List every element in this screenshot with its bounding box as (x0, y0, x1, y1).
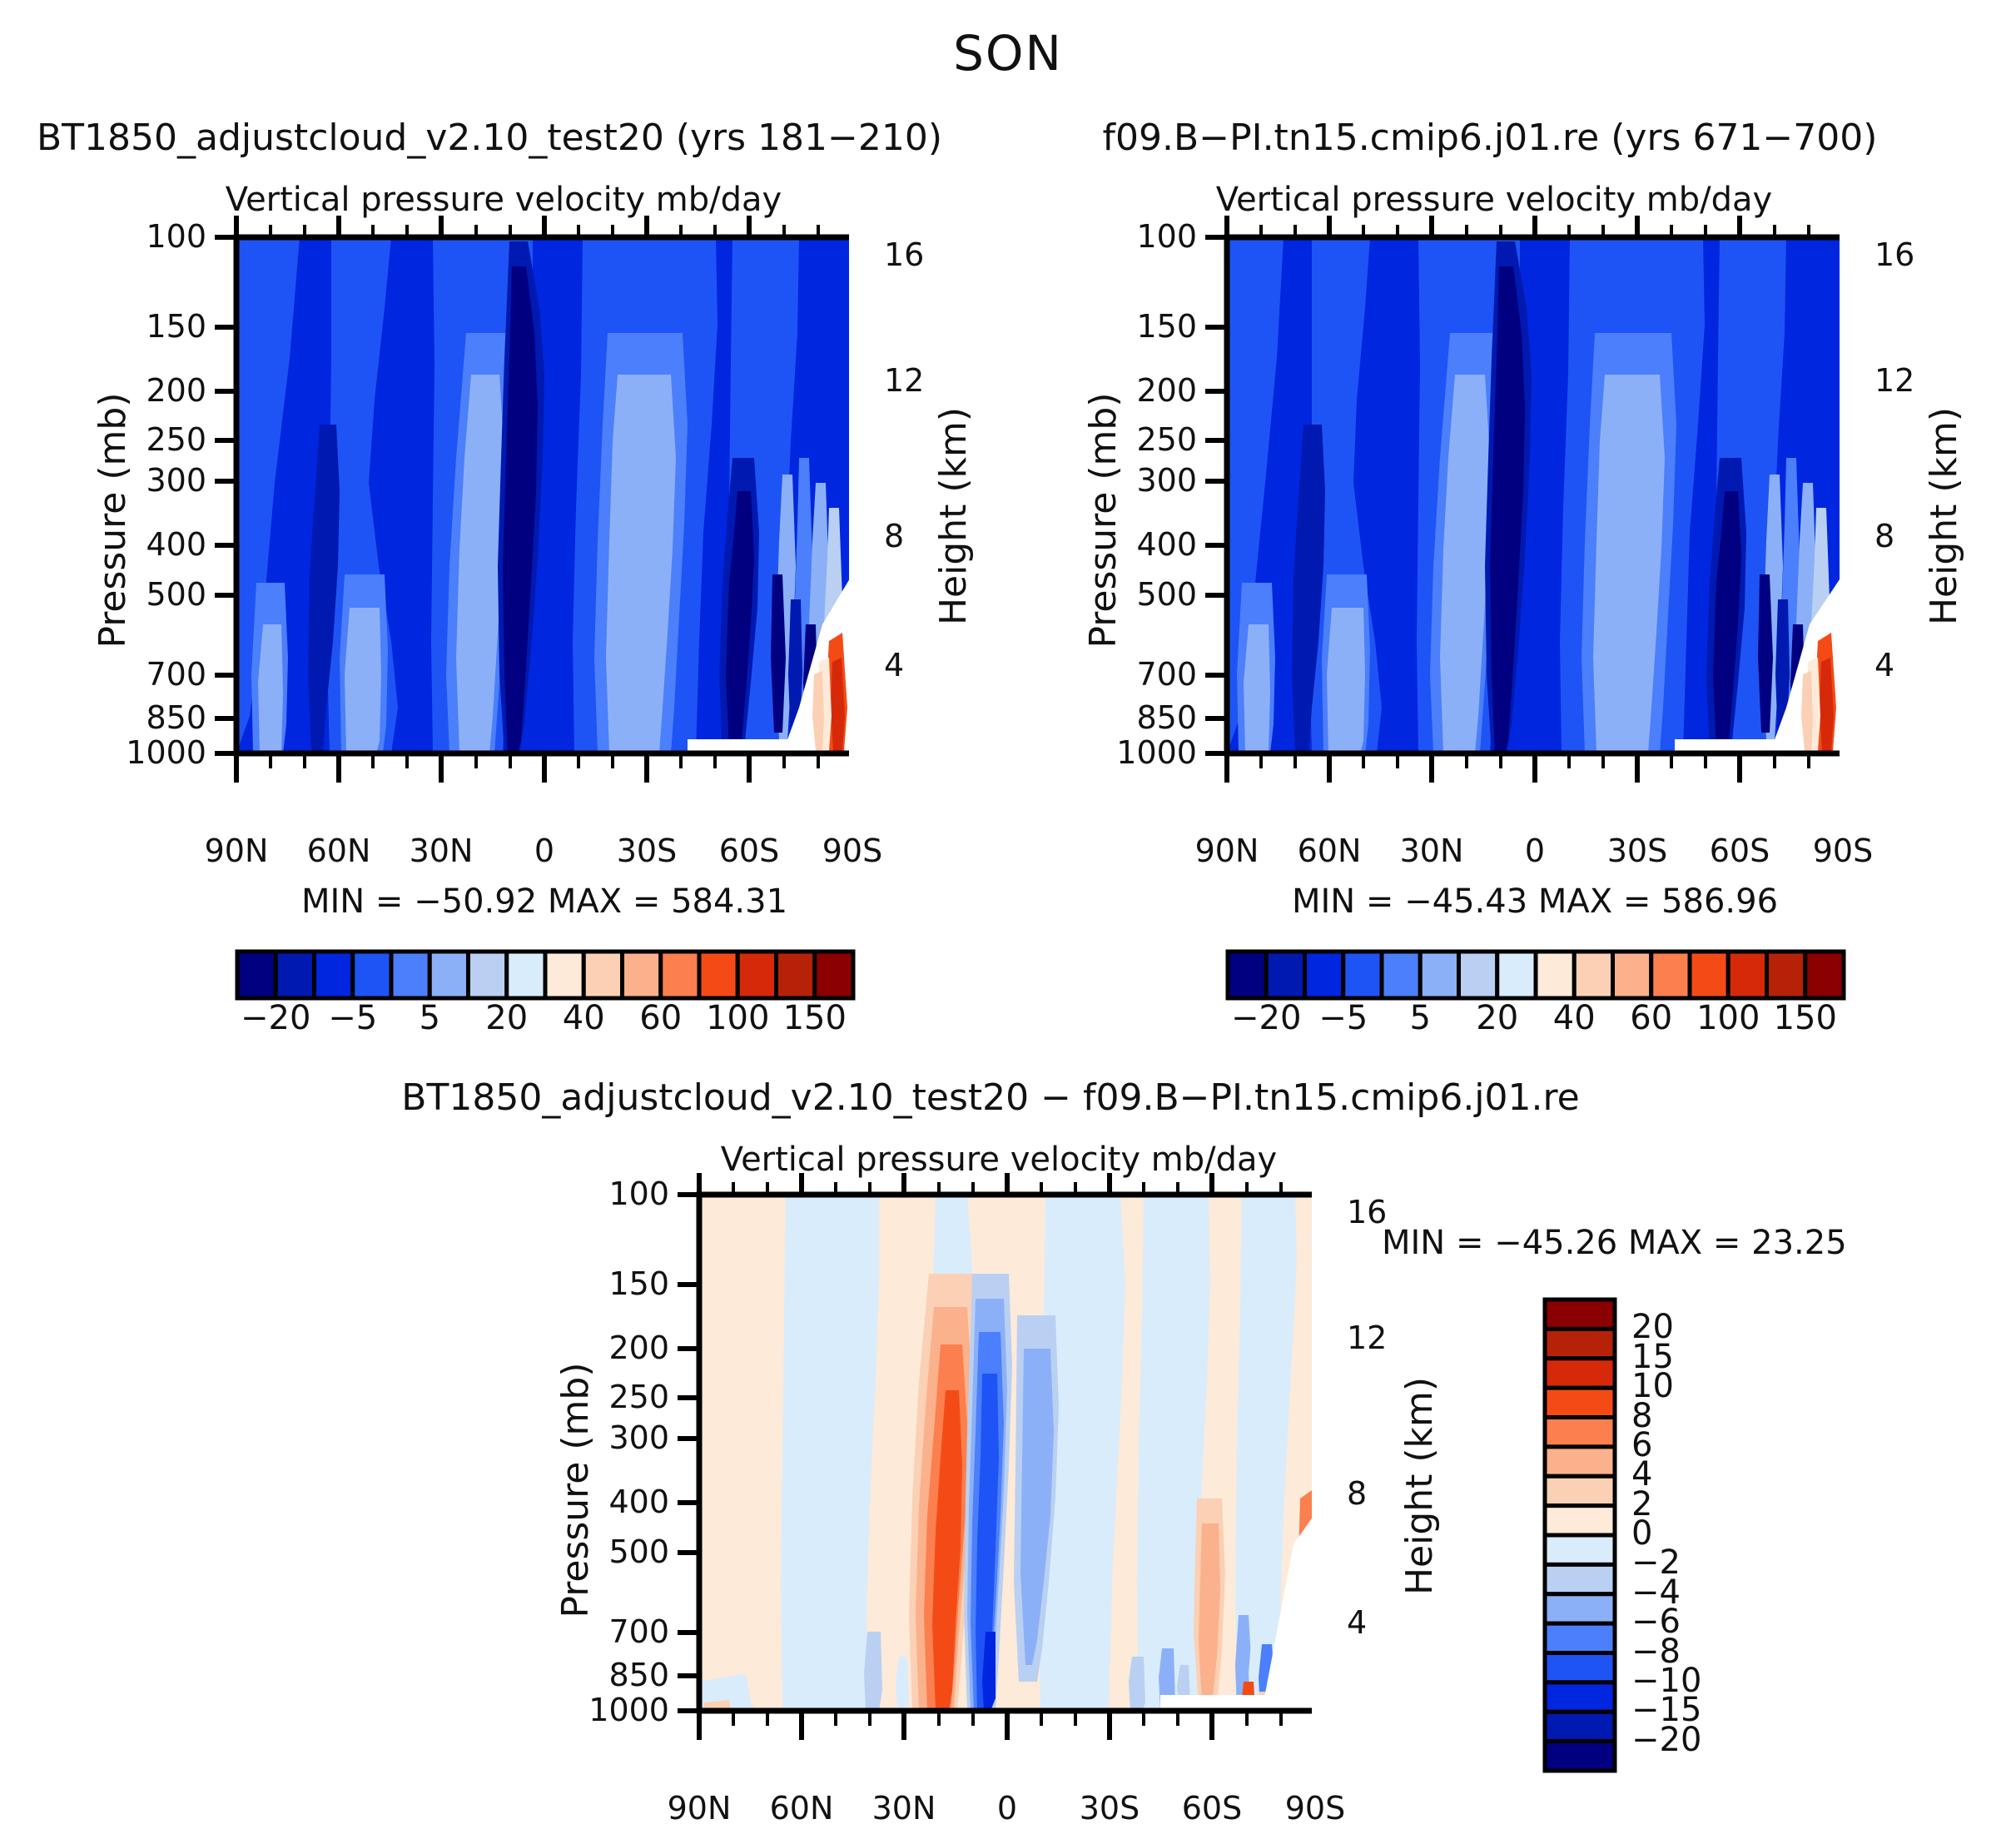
diff-minmax: MIN = −45.26 MAX = 23.25 (1382, 1224, 1847, 1262)
colorbar-tick-label: 150 (1774, 999, 1837, 1037)
left-height-4: 4 (884, 647, 904, 683)
diff-height-8: 8 (1347, 1475, 1367, 1512)
colorbar-cell (1305, 952, 1343, 998)
colorbar-cell (276, 952, 314, 998)
colorbar-cell (315, 952, 353, 998)
left-ytick-1000: 1000 (126, 734, 206, 771)
diff-ytick-850: 850 (608, 1657, 669, 1693)
left-ytick-850: 850 (146, 699, 206, 736)
right-y2label: Height (km) (1923, 407, 1965, 625)
colorbar-cell (1545, 1506, 1615, 1535)
colorbar-cell (469, 952, 507, 998)
colorbar-tick-label: −20 (1631, 1721, 1701, 1759)
diff-xtick-90N: 90N (668, 1790, 732, 1827)
diff-xtick-60S: 60S (1182, 1790, 1242, 1827)
right-xtick-60S: 60S (1710, 833, 1770, 869)
right-height-12: 12 (1874, 362, 1914, 399)
colorbar-tick-label: 40 (563, 999, 605, 1037)
right-ytick-500: 500 (1136, 576, 1197, 613)
right-minmax: MIN = −45.43 MAX = 586.96 (1292, 882, 1778, 921)
colorbar-cell (1420, 952, 1458, 998)
left-ylabel: Pressure (mb) (92, 393, 134, 649)
colorbar-cell (1545, 1535, 1615, 1564)
diff-y2label: Height (km) (1398, 1377, 1441, 1595)
colorbar-tick-label: −20 (1231, 999, 1301, 1037)
left-xtick-30S: 30S (617, 833, 677, 869)
right-xtick-30S: 30S (1607, 833, 1667, 869)
diff-xtick-90S: 90S (1285, 1790, 1345, 1827)
right-xtick-90N: 90N (1195, 833, 1259, 869)
colorbar-cell (623, 952, 661, 998)
diff-ytick-1000: 1000 (588, 1692, 669, 1728)
right-xtick-30N: 30N (1400, 833, 1464, 869)
diff-ytick-300: 300 (608, 1419, 669, 1456)
right-ylabel: Pressure (mb) (1082, 393, 1125, 649)
left-y2label: Height (km) (932, 407, 975, 625)
diff-height-4: 4 (1347, 1604, 1367, 1641)
colorbar-cell (1228, 952, 1266, 998)
left-ytick-150: 150 (146, 308, 206, 345)
colorbar-tick-label: −5 (1318, 999, 1368, 1037)
right-xtick-90S: 90S (1813, 833, 1873, 869)
right-ytick-300: 300 (1136, 462, 1197, 499)
diff-xtick-60N: 60N (770, 1790, 834, 1827)
colorbar-cell (583, 952, 622, 998)
colorbar-cell (1651, 952, 1690, 998)
diff-ytick-250: 250 (608, 1379, 669, 1415)
left-xtick-90S: 90S (822, 833, 882, 869)
colorbar-cell (1266, 952, 1304, 998)
colorbar-cell (1545, 1447, 1615, 1476)
diff-ytick-700: 700 (608, 1613, 669, 1650)
left-xtick-60N: 60N (307, 833, 371, 869)
diff-pressure-ticks (678, 1195, 699, 1711)
colorbar-tick-label: 100 (706, 999, 769, 1037)
colorbar-cell (661, 952, 699, 998)
colorbar-cell (815, 952, 853, 998)
right-xtick-0: 0 (1525, 833, 1545, 869)
colorbar-cell (507, 952, 545, 998)
colorbar-cell (1497, 952, 1536, 998)
colorbar-cell (1343, 952, 1382, 998)
colorbar-cell (1545, 1623, 1615, 1653)
colorbar-cell (1545, 1742, 1615, 1771)
colorbar-tick-label: 150 (783, 999, 847, 1037)
right-ytick-250: 250 (1136, 421, 1197, 458)
colorbar-cell (545, 952, 583, 998)
right-height-4: 4 (1874, 647, 1894, 683)
colorbar-cell (430, 952, 468, 998)
colorbar-tick-label: 20 (485, 999, 528, 1037)
colorbar-cell (777, 952, 815, 998)
left-colorbar-labels: −20−55204060100150 (229, 999, 862, 1049)
left-height-16: 16 (884, 236, 924, 273)
colorbar-cell (1536, 952, 1574, 998)
right-ytick-850: 850 (1136, 699, 1197, 736)
colorbar-cell (1459, 952, 1497, 998)
colorbar-cell (1574, 952, 1612, 998)
colorbar-cell (1767, 952, 1805, 998)
right-ytick-200: 200 (1136, 372, 1197, 409)
left-ytick-250: 250 (146, 421, 206, 458)
left-xtick-60S: 60S (719, 833, 779, 869)
colorbar-cell (391, 952, 430, 998)
colorbar-cell (1545, 1594, 1615, 1623)
right-panel-title: f09.B−PI.tn15.cmip6.j01.re (yrs 671−700) (1103, 117, 1878, 159)
right-height-16: 16 (1874, 236, 1914, 273)
colorbar-tick-label: 60 (1630, 999, 1672, 1037)
diff-ylabel: Pressure (mb) (554, 1363, 597, 1618)
colorbar-cell (1690, 952, 1728, 998)
colorbar-cell (1545, 1712, 1615, 1741)
diff-xtick-30S: 30S (1080, 1790, 1140, 1827)
left-xtick-90N: 90N (205, 833, 269, 869)
left-ytick-400: 400 (146, 526, 206, 563)
right-height-8: 8 (1874, 518, 1894, 554)
colorbar-cell (1545, 1653, 1615, 1682)
left-ytick-200: 200 (146, 372, 206, 409)
diff-ytick-500: 500 (608, 1533, 669, 1570)
colorbar-tick-label: −20 (241, 999, 310, 1037)
colorbar-tick-label: −5 (328, 999, 377, 1037)
right-ytick-700: 700 (1136, 656, 1197, 693)
right-ytick-1000: 1000 (1116, 734, 1197, 771)
right-colorbar-labels: −20−55204060100150 (1219, 999, 1852, 1049)
colorbar-cell (1545, 1418, 1615, 1447)
colorbar-cell (1728, 952, 1766, 998)
colorbar-cell (1545, 1359, 1615, 1388)
colorbar-cell (353, 952, 391, 998)
diff-xtick-0: 0 (997, 1790, 1017, 1827)
colorbar-cell (237, 952, 276, 998)
left-xtick-30N: 30N (410, 833, 474, 869)
colorbar-cell (1545, 1682, 1615, 1712)
colorbar-cell (1545, 1476, 1615, 1505)
colorbar-tick-label: 5 (420, 999, 440, 1037)
right-xtick-60N: 60N (1298, 833, 1362, 869)
colorbar-tick-label: 40 (1553, 999, 1596, 1037)
colorbar-tick-label: 5 (1410, 999, 1431, 1037)
colorbar-cell (1545, 1564, 1615, 1593)
left-height-8: 8 (884, 518, 904, 554)
right-ytick-150: 150 (1136, 308, 1197, 345)
left-ytick-300: 300 (146, 462, 206, 499)
left-panel-title: BT1850_adjustcloud_v2.10_test20 (yrs 181… (37, 117, 942, 159)
colorbar-cell (1545, 1300, 1615, 1329)
diff-height-12: 12 (1347, 1320, 1387, 1356)
diff-ytick-200: 200 (608, 1330, 669, 1366)
diff-ytick-400: 400 (608, 1484, 669, 1520)
left-xtick-0: 0 (534, 833, 554, 869)
colorbar-cell (1545, 1329, 1615, 1358)
left-ytick-100: 100 (146, 218, 206, 255)
colorbar-tick-label: 60 (639, 999, 682, 1037)
left-pressure-ticks (215, 237, 236, 753)
left-height-12: 12 (884, 362, 924, 399)
colorbar-tick-label: 20 (1476, 999, 1518, 1037)
diff-panel-title: BT1850_adjustcloud_v2.10_test20 − f09.B−… (401, 1076, 1579, 1119)
left-ytick-700: 700 (146, 656, 206, 693)
right-pressure-ticks (1205, 237, 1227, 753)
colorbar-cell (1382, 952, 1420, 998)
colorbar-cell (699, 952, 737, 998)
right-ytick-400: 400 (1136, 526, 1197, 563)
colorbar-cell (1805, 952, 1844, 998)
diff-colorbar-labels: 20151086420−2−4−6−8−10−15−20 (1631, 1295, 1798, 1794)
right-ytick-100: 100 (1136, 218, 1197, 255)
left-minmax: MIN = −50.92 MAX = 584.31 (301, 882, 787, 921)
colorbar-tick-label: 100 (1696, 999, 1760, 1037)
diff-colorbar[interactable] (1538, 1295, 1621, 1777)
figure-main-title: SON (953, 25, 1063, 82)
diff-ytick-150: 150 (608, 1265, 669, 1302)
colorbar-cell (1613, 952, 1651, 998)
left-ytick-500: 500 (146, 576, 206, 613)
diff-xtick-30N: 30N (872, 1790, 936, 1827)
colorbar-cell (737, 952, 776, 998)
diff-ytick-100: 100 (608, 1175, 669, 1212)
colorbar-cell (1545, 1388, 1615, 1417)
